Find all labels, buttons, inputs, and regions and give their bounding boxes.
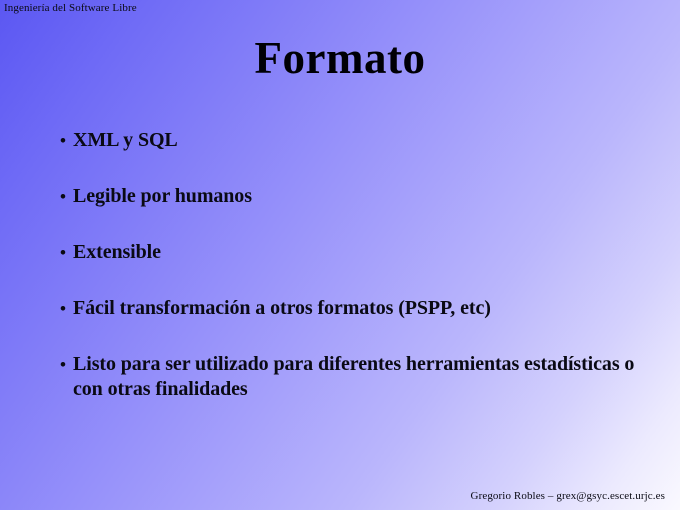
list-item-label: Fácil transformación a otros formatos (P…: [73, 296, 660, 321]
presentation-slide: Ingeniería del Software Libre Formato • …: [0, 0, 680, 510]
slide-header-course-title: Ingeniería del Software Libre: [4, 2, 137, 15]
bullet-point-icon: •: [60, 128, 66, 153]
bullet-point-icon: •: [60, 352, 66, 377]
bullet-point-icon: •: [60, 240, 66, 265]
list-item-label: Legible por humanos: [73, 184, 660, 209]
list-item: • Listo para ser utilizado para diferent…: [60, 352, 660, 402]
list-item: • Fácil transformación a otros formatos …: [60, 296, 660, 321]
list-item: • XML y SQL: [60, 128, 660, 153]
list-item: • Extensible: [60, 240, 660, 265]
page-title: Formato: [0, 32, 680, 84]
bullet-point-icon: •: [60, 296, 66, 321]
bullet-list: • XML y SQL • Legible por humanos • Exte…: [60, 128, 660, 402]
list-item-label: XML y SQL: [73, 128, 660, 153]
bullet-point-icon: •: [60, 184, 66, 209]
slide-footer-author: Gregorio Robles – grex@gsyc.escet.urjc.e…: [471, 489, 665, 503]
list-item-label: Extensible: [73, 240, 660, 265]
list-item: • Legible por humanos: [60, 184, 660, 209]
list-item-label: Listo para ser utilizado para diferentes…: [73, 352, 660, 402]
